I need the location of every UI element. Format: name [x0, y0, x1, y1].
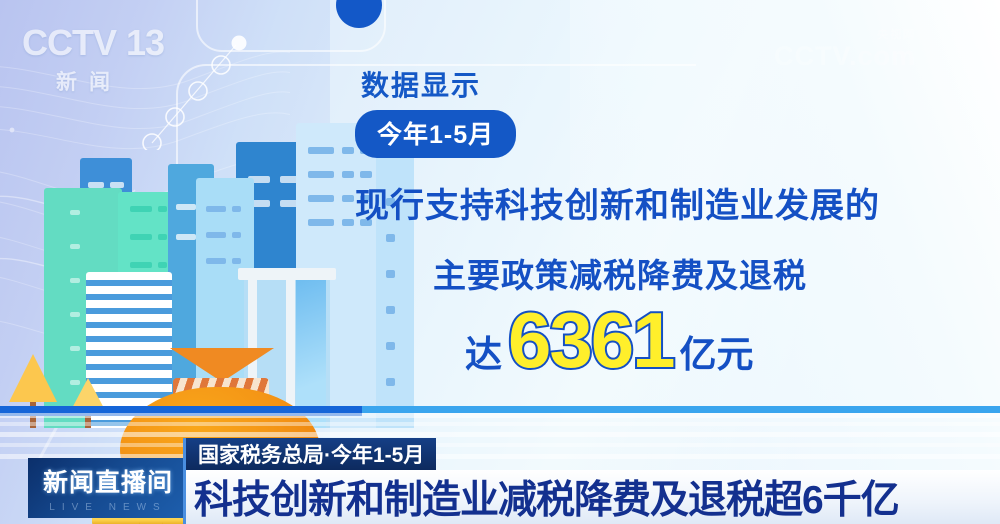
amount-unit: 亿元 — [680, 324, 754, 378]
amount-row: 达 6361 亿元 — [465, 303, 955, 378]
reach-label: 达 — [465, 324, 502, 378]
source-bar: 国家税务总局·今年1-5月 — [186, 438, 436, 470]
program-name: 新闻直播间 — [43, 463, 173, 499]
cctv-logo-number: 13 — [126, 22, 164, 63]
cctv-channel-logo: CCTV13 新闻 — [22, 22, 202, 92]
tree-top-large — [9, 354, 57, 402]
gate-roof — [238, 268, 336, 280]
headline-text: 科技创新和制造业减税降费及退税超6千亿 — [194, 469, 899, 524]
statement-line-1: 现行支持科技创新和制造业发展的 — [355, 178, 955, 227]
broadcast-frame: CCTV13 新闻 央视网 CCTV.com 数据显示 今年1-5月 现行支持科… — [0, 0, 1000, 524]
amount-value: 6361 — [508, 303, 674, 377]
money-bag-top — [170, 348, 274, 382]
lower-third: 新闻直播间 LIVE NEWS 国家税务总局·今年1-5月 科技创新和制造业减税… — [0, 434, 1000, 524]
headline-bar: 科技创新和制造业减税降费及退税超6千亿 — [186, 470, 1000, 524]
statement-line-2: 主要政策减税降费及退税 — [433, 249, 955, 297]
kicker-text: 数据显示 — [361, 72, 955, 100]
cctv-dot-com-watermark: 央视网 CCTV.com — [774, 30, 916, 70]
period-badge: 今年1-5月 — [355, 110, 516, 158]
program-logo: 新闻直播间 LIVE NEWS — [28, 458, 188, 518]
program-live-label: LIVE NEWS — [49, 502, 166, 513]
watermark-latin: CCTV.com — [774, 42, 916, 70]
cctv-logo-text: CCTV — [22, 22, 116, 63]
watermark-cn: 央视网 — [774, 30, 916, 42]
source-text: 国家税务总局·今年1-5月 — [198, 439, 424, 469]
cctv-logo-sub: 新闻 — [56, 66, 202, 96]
infographic-copy: 数据显示 今年1-5月 现行支持科技创新和制造业发展的 主要政策减税降费及退税 … — [355, 72, 955, 378]
